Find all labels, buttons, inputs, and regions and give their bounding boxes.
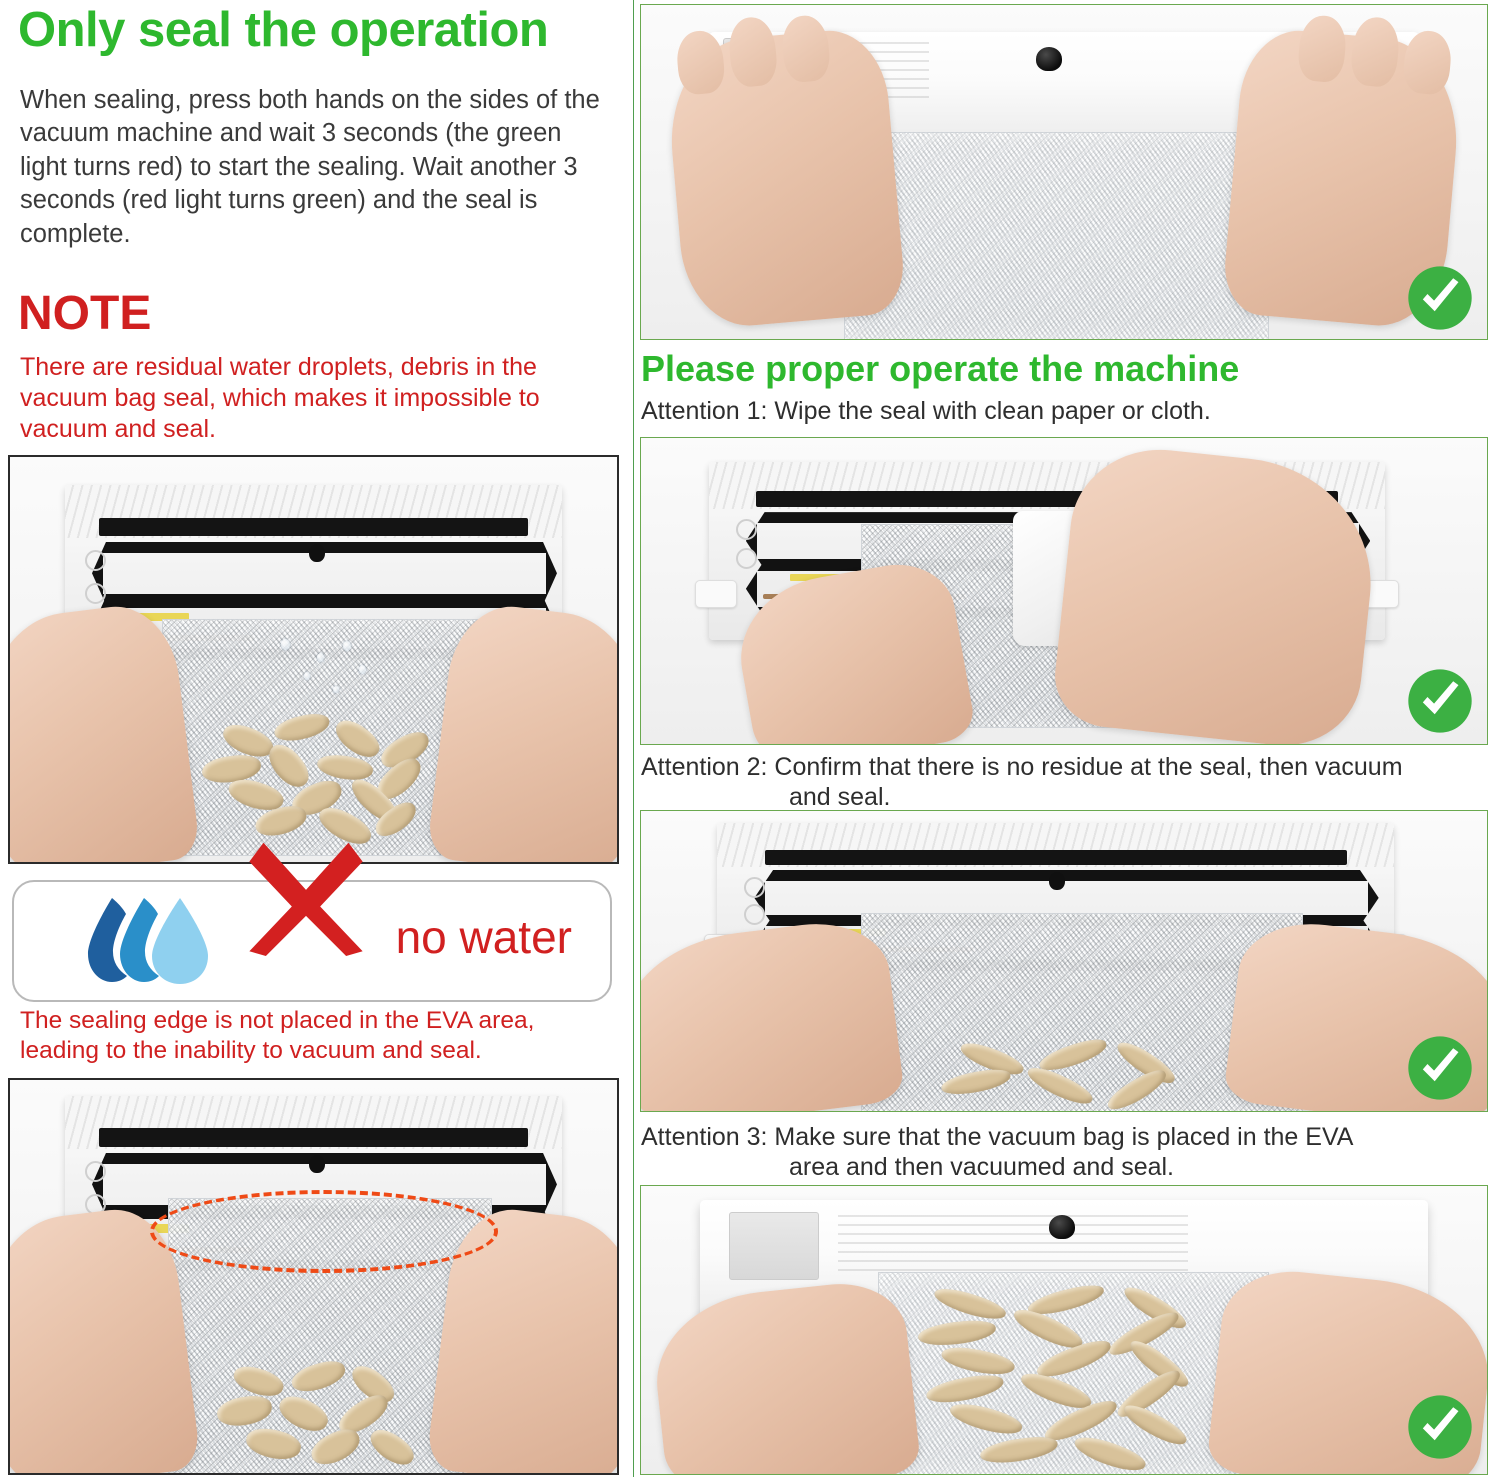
photo-wet-bag <box>8 455 619 864</box>
note-body-text: There are residual water droplets, debri… <box>20 352 610 445</box>
photo-wipe-seal <box>640 437 1488 745</box>
photo-press-hands <box>640 4 1488 340</box>
vacuum-nozzle-icon <box>309 1155 325 1173</box>
vacuum-bag <box>844 132 1269 340</box>
attention-1-text: Attention 1: Wipe the seal with clean pa… <box>641 396 1490 426</box>
attention-3-line-2: area and then vacuumed and seal. <box>641 1152 1490 1182</box>
note-heading: NOTE <box>18 290 151 338</box>
left-body-text: When sealing, press both hands on the si… <box>20 84 610 251</box>
right-heading: Please proper operate the machine <box>641 350 1490 388</box>
hand-left <box>663 26 907 331</box>
cross-mark-icon <box>238 838 374 956</box>
photo-eva-area <box>640 1185 1488 1475</box>
attention-2-text: Attention 2: Confirm that there is no re… <box>641 752 1490 812</box>
check-mark-icon <box>1407 265 1473 331</box>
no-water-label: no water <box>396 910 572 964</box>
left-column: Only seal the operation When sealing, pr… <box>0 0 626 1477</box>
check-mark-icon <box>1407 1035 1473 1101</box>
vacuum-nozzle-icon <box>1049 872 1065 890</box>
column-divider <box>633 0 634 1477</box>
check-mark-icon <box>1407 668 1473 734</box>
vacuum-nozzle-icon <box>309 544 325 562</box>
instruction-sheet: Only seal the operation When sealing, pr… <box>0 0 1490 1477</box>
water-droplets-icon <box>82 894 217 989</box>
attention-3-text: Attention 3: Make sure that the vacuum b… <box>641 1122 1490 1182</box>
highlight-ellipse <box>150 1190 498 1273</box>
left-heading: Only seal the operation <box>18 4 618 57</box>
photo-no-residue <box>640 810 1488 1112</box>
attention-3-line-1: Attention 3: Make sure that the vacuum b… <box>641 1123 1353 1151</box>
eva-warning-text: The sealing edge is not placed in the EV… <box>20 1006 620 1067</box>
attention-2-line-2: and seal. <box>641 782 1490 812</box>
check-mark-icon <box>1407 1394 1473 1460</box>
attention-2-line-1: Attention 2: Confirm that there is no re… <box>641 753 1403 781</box>
photo-bad-placement <box>8 1078 619 1475</box>
